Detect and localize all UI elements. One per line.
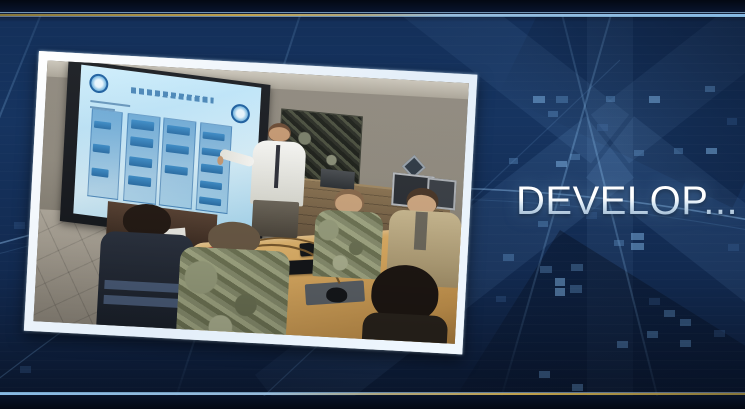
decor-square bbox=[614, 240, 624, 246]
decor-square bbox=[647, 331, 658, 338]
decor-square bbox=[556, 96, 568, 103]
decor-square bbox=[572, 384, 583, 391]
decor-square bbox=[571, 264, 583, 271]
decor-square bbox=[680, 340, 691, 347]
decor-square bbox=[631, 233, 644, 240]
decor-square bbox=[649, 298, 660, 305]
decor-square bbox=[705, 86, 715, 92]
photo-image bbox=[33, 60, 468, 343]
decor-square bbox=[503, 254, 514, 261]
decor-square bbox=[556, 161, 567, 167]
top-accent-rule-secondary bbox=[0, 16, 745, 17]
decor-square bbox=[20, 366, 31, 373]
bottom-accent-rule-secondary bbox=[0, 392, 745, 393]
decor-square bbox=[606, 96, 615, 102]
decor-square bbox=[540, 266, 552, 273]
decor-square bbox=[533, 96, 545, 103]
decor-square bbox=[570, 154, 580, 160]
decor-square bbox=[706, 148, 717, 154]
bottom-letterbox bbox=[0, 396, 745, 409]
decor-square bbox=[555, 278, 565, 286]
decor-square bbox=[496, 296, 506, 302]
slide-canvas: DEVELOP... bbox=[0, 0, 745, 409]
decor-square bbox=[548, 111, 558, 117]
decor-square bbox=[714, 330, 725, 337]
decor-square bbox=[14, 222, 25, 229]
decor-square bbox=[728, 244, 739, 251]
decor-square bbox=[539, 371, 550, 378]
decor-square bbox=[570, 285, 582, 293]
page-title: DEVELOP... bbox=[516, 181, 738, 221]
bottom-accent-rule bbox=[0, 393, 745, 395]
decor-square bbox=[727, 118, 737, 125]
decor-square bbox=[631, 243, 644, 250]
decor-square bbox=[649, 96, 660, 103]
photo-card[interactable] bbox=[24, 51, 477, 354]
decor-square bbox=[597, 124, 608, 131]
decor-square bbox=[555, 288, 565, 296]
photo-tone-overlay bbox=[33, 60, 468, 343]
decor-square bbox=[509, 158, 518, 164]
decor-square bbox=[674, 148, 683, 154]
decor-square bbox=[664, 310, 675, 317]
decor-square bbox=[680, 319, 691, 326]
decor-square bbox=[634, 150, 644, 156]
decor-square bbox=[617, 341, 628, 348]
